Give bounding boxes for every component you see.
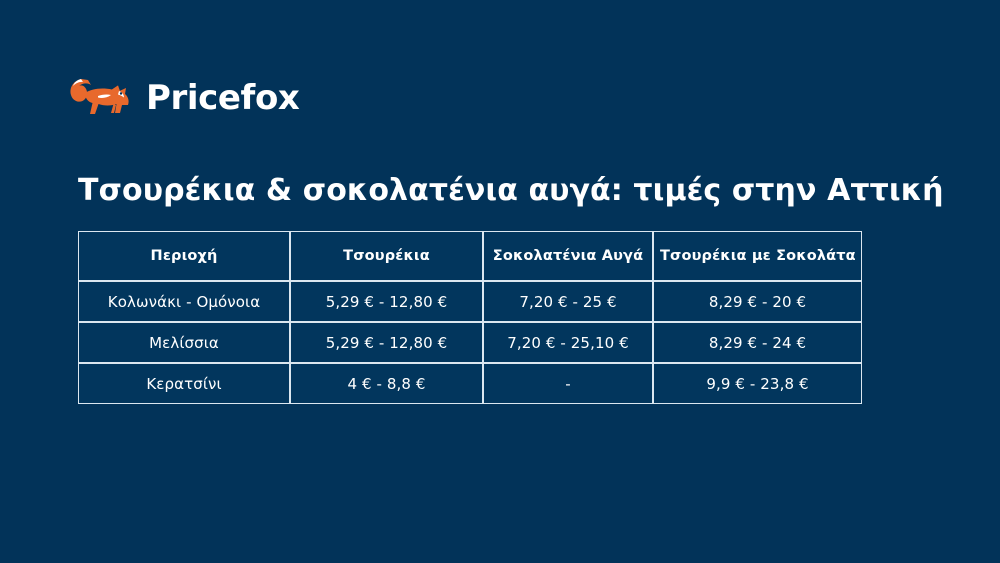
- cell-area: Κερατσίνι: [78, 363, 290, 404]
- table-row: Κερατσίνι 4 € - 8,8 € - 9,9 € - 23,8 €: [78, 363, 862, 404]
- column-header-tsoureki: Τσουρέκια: [290, 231, 483, 281]
- cell-chocolate-eggs: 7,20 € - 25,10 €: [483, 322, 653, 363]
- cell-tsoureki: 5,29 € - 12,80 €: [290, 281, 483, 322]
- slide-canvas: Pricefox Τσουρέκια & σοκολατένια αυγά: τ…: [0, 0, 1000, 563]
- column-header-chocolate-eggs: Σοκολατένια Αυγά: [483, 231, 653, 281]
- brand-lockup: Pricefox: [66, 70, 299, 126]
- table-header-row: Περιοχή Τσουρέκια Σοκολατένια Αυγά Τσουρ…: [78, 231, 862, 281]
- cell-tsoureki: 4 € - 8,8 €: [290, 363, 483, 404]
- cell-tsoureki-chocolate: 8,29 € - 20 €: [653, 281, 862, 322]
- cell-area: Μελίσσια: [78, 322, 290, 363]
- price-table: Περιοχή Τσουρέκια Σοκολατένια Αυγά Τσουρ…: [78, 231, 862, 404]
- fox-icon: [66, 73, 138, 123]
- cell-chocolate-eggs: -: [483, 363, 653, 404]
- brand-name: Pricefox: [146, 81, 299, 115]
- cell-tsoureki-chocolate: 9,9 € - 23,8 €: [653, 363, 862, 404]
- table-row: Κολωνάκι - Ομόνοια 5,29 € - 12,80 € 7,20…: [78, 281, 862, 322]
- column-header-area: Περιοχή: [78, 231, 290, 281]
- cell-tsoureki-chocolate: 8,29 € - 24 €: [653, 322, 862, 363]
- cell-tsoureki: 5,29 € - 12,80 €: [290, 322, 483, 363]
- page-title: Τσουρέκια & σοκολατένια αυγά: τιμές στην…: [78, 172, 944, 210]
- cell-area: Κολωνάκι - Ομόνοια: [78, 281, 290, 322]
- table-row: Μελίσσια 5,29 € - 12,80 € 7,20 € - 25,10…: [78, 322, 862, 363]
- cell-chocolate-eggs: 7,20 € - 25 €: [483, 281, 653, 322]
- column-header-tsoureki-chocolate: Τσουρέκια με Σοκολάτα: [653, 231, 862, 281]
- price-table-container: Περιοχή Τσουρέκια Σοκολατένια Αυγά Τσουρ…: [78, 231, 862, 404]
